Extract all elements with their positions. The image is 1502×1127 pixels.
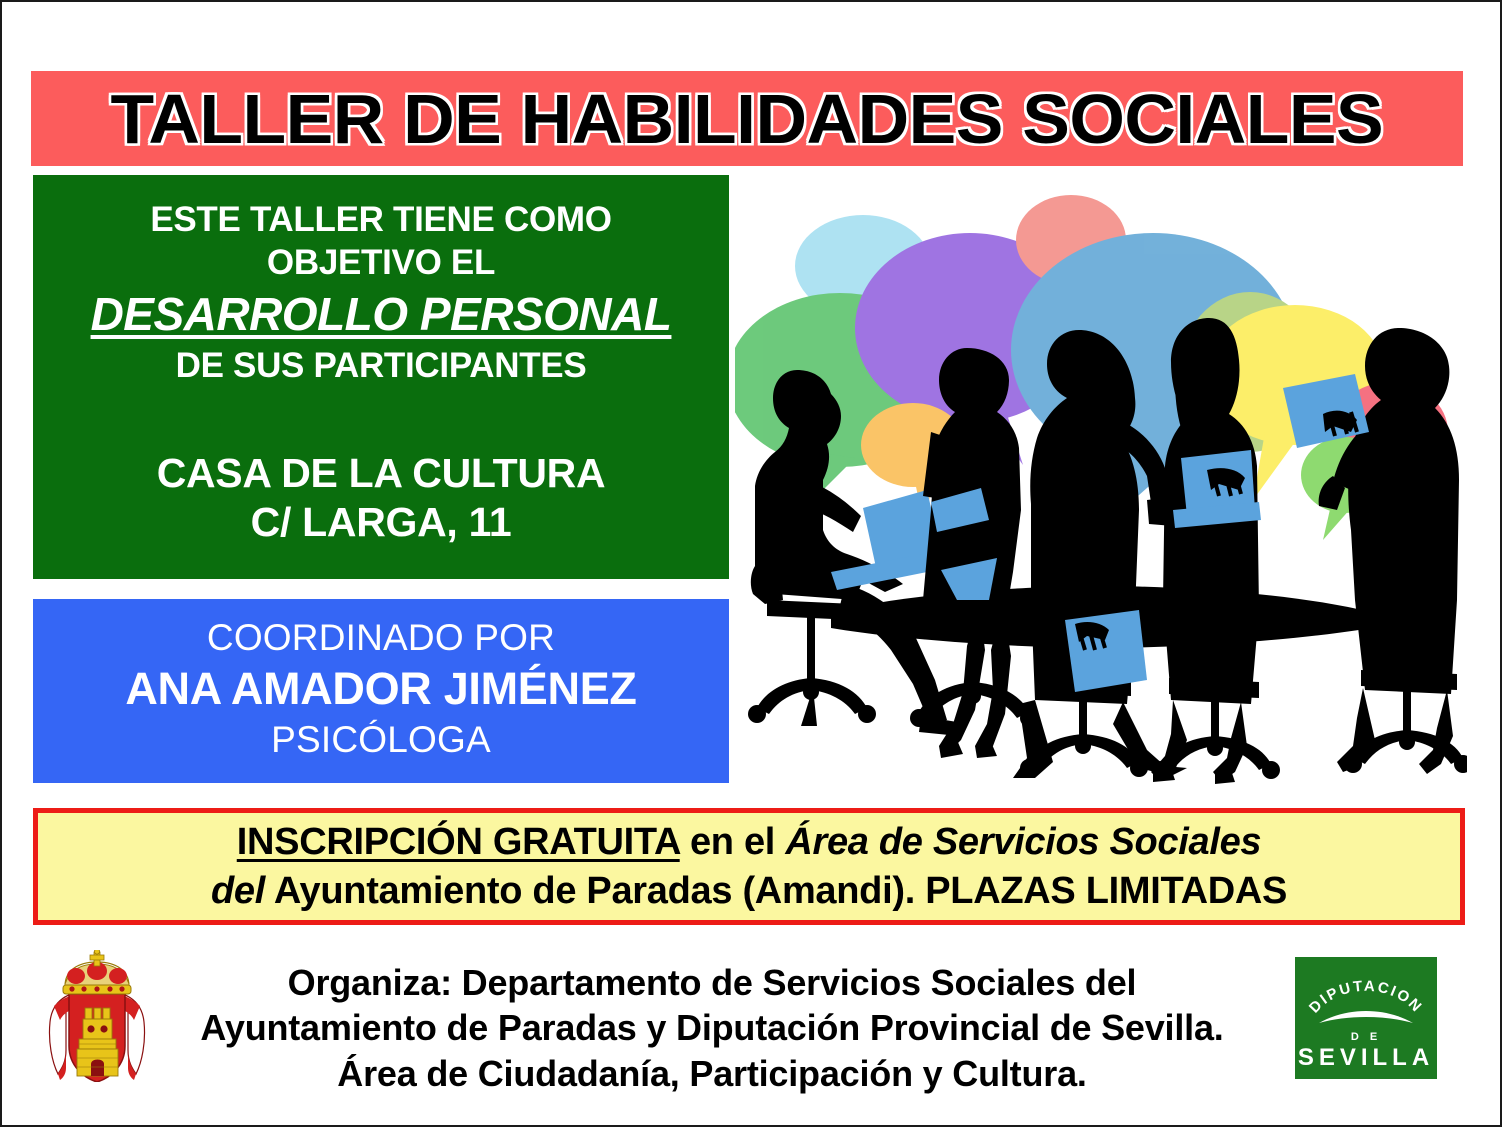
objective-line-1: ESTE TALLER TIENE COMO [43,199,719,242]
footer-line-3: Área de Ciudadanía, Participación y Cult… [162,1051,1262,1096]
footer-line-1: Organiza: Departamento de Servicios Soci… [162,960,1262,1005]
venue-line-1: CASA DE LA CULTURA [43,449,719,498]
registration-italic-2: del [211,870,265,912]
registration-banner: INSCRIPCIÓN GRATUITA en el Área de Servi… [33,808,1465,925]
objective-box: ESTE TALLER TIENE COMO OBJETIVO EL DESAR… [33,175,729,579]
paradas-coat-of-arms-icon [36,950,158,1082]
logo-sevilla-text: SEVILLA [1298,1044,1434,1071]
meeting-illustration [735,180,1467,792]
objective-line-3: DE SUS PARTICIPANTES [43,345,719,388]
registration-italic-1: Área de Servicios Sociales [785,821,1261,863]
registration-highlight: INSCRIPCIÓN GRATUITA [237,821,680,863]
registration-mid-2: Ayuntamiento de Paradas (Amandi). [265,870,925,912]
registration-highlight-2: PLAZAS LIMITADAS [925,870,1287,912]
coordinator-role: PSICÓLOGA [33,717,729,763]
title-banner: TALLER DE HABILIDADES SOCIALES [31,71,1463,166]
venue-line-2: C/ LARGA, 11 [43,498,719,547]
objective-spacer [43,387,719,449]
diputacion-sevilla-logo: DIPUTACION D E SEVILLA [1295,957,1437,1079]
registration-line-1: INSCRIPCIÓN GRATUITA en el Área de Servi… [237,818,1262,867]
registration-mid-1: en el [680,821,786,863]
registration-line-2: del Ayuntamiento de Paradas (Amandi). PL… [211,867,1287,916]
poster-title: TALLER DE HABILIDADES SOCIALES [111,84,1384,154]
coordinator-name: ANA AMADOR JIMÉNEZ [33,661,729,717]
poster-root: TALLER DE HABILIDADES SOCIALES ESTE TALL… [0,0,1502,1127]
coordinator-box: COORDINADO POR ANA AMADOR JIMÉNEZ PSICÓL… [33,599,729,783]
footer-credits: Organiza: Departamento de Servicios Soci… [162,960,1262,1096]
coordinator-label: COORDINADO POR [33,615,729,661]
objective-line-2: OBJETIVO EL [43,242,719,285]
footer-line-2: Ayuntamiento de Paradas y Diputación Pro… [162,1005,1262,1050]
objective-emphasis: DESARROLLO PERSONAL [43,287,719,342]
document-3 [1065,610,1147,692]
logo-de-text: D E [1351,1031,1381,1043]
